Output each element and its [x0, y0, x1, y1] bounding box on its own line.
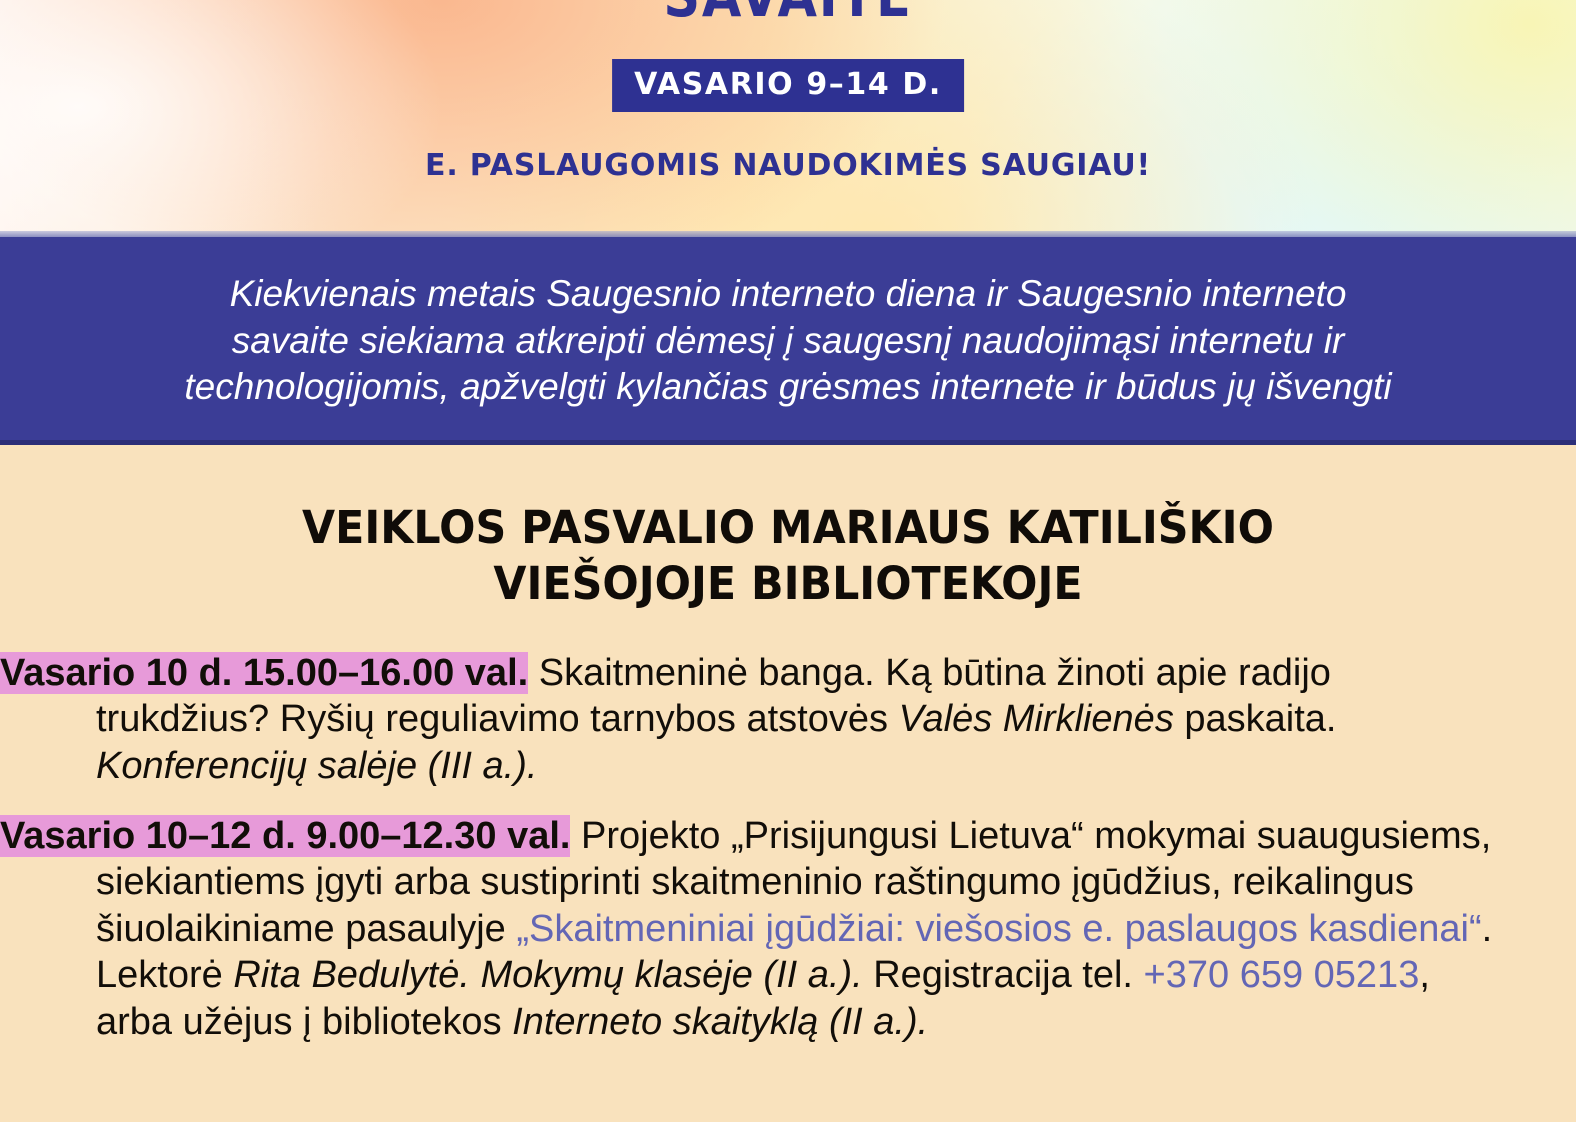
events-list: Vasario 10 d. 15.00–16.00 val. Skaitmeni… — [0, 650, 1576, 1045]
section-heading-line-1: VEIKLOS PASVALIO MARIAUS KATILIŠKIO — [302, 501, 1274, 554]
intro-line-2: savaite siekiama atkreipti dėmesį į saug… — [232, 320, 1345, 361]
poster-root: SAVAITĖ VASARIO 9–14 D. E. PASLAUGOMIS N… — [0, 0, 1576, 1122]
event-lecturer: Rita Bedulytė. — [233, 954, 470, 996]
event-item: Vasario 10 d. 15.00–16.00 val. Skaitmeni… — [0, 650, 1576, 789]
event-location: Konferencijų salėje (III a.). — [96, 745, 537, 787]
event-datetime-highlight: Vasario 10–12 d. 9.00–12.30 val. — [0, 815, 570, 857]
poster-title: SAVAITĖ — [95, 0, 1482, 30]
event-description-cont: paskaita. — [1174, 698, 1337, 740]
intro-banner-text: Kiekvienais metais Saugesnio interneto d… — [123, 271, 1453, 411]
event-item: Vasario 10–12 d. 9.00–12.30 val. Projekt… — [0, 813, 1576, 1045]
intro-banner: Kiekvienais metais Saugesnio interneto d… — [0, 237, 1576, 445]
section-heading: VEIKLOS PASVALIO MARIAUS KATILIŠKIO VIEŠ… — [39, 500, 1536, 612]
events-section: VEIKLOS PASVALIO MARIAUS KATILIŠKIO VIEŠ… — [0, 445, 1576, 1122]
event-datetime-highlight: Vasario 10 d. 15.00–16.00 val. — [0, 652, 528, 694]
poster-header: SAVAITĖ VASARIO 9–14 D. E. PASLAUGOMIS N… — [0, 0, 1576, 237]
event-registration-label: Registracija tel. — [863, 954, 1144, 996]
intro-line-1: Kiekvienais metais Saugesnio interneto d… — [230, 273, 1347, 314]
header-tagline: E. PASLAUGOMIS NAUDOKIMĖS SAUGIAU! — [0, 148, 1576, 183]
event-lecturer: Valės Mirklienės — [899, 698, 1174, 740]
intro-line-3: technologijomis, apžvelgti kylančias grė… — [184, 366, 1391, 407]
tagline-heavy-part: SAUGIAU! — [980, 148, 1151, 183]
tagline-light-part: E. PASLAUGOMIS NAUDOKIMĖS — [425, 148, 980, 183]
event-location: Mokymų klasėje (II a.). — [470, 954, 863, 996]
date-badge: VASARIO 9–14 D. — [612, 59, 964, 112]
event-course-title-link[interactable]: „Skaitmeniniai įgūdžiai: viešosios e. pa… — [516, 908, 1481, 950]
event-location-alt: Interneto skaityklą (II a.). — [512, 1001, 928, 1043]
section-heading-line-2: VIEŠOJOJE BIBLIOTEKOJE — [493, 557, 1082, 610]
event-phone-link[interactable]: +370 659 05213 — [1144, 954, 1420, 996]
